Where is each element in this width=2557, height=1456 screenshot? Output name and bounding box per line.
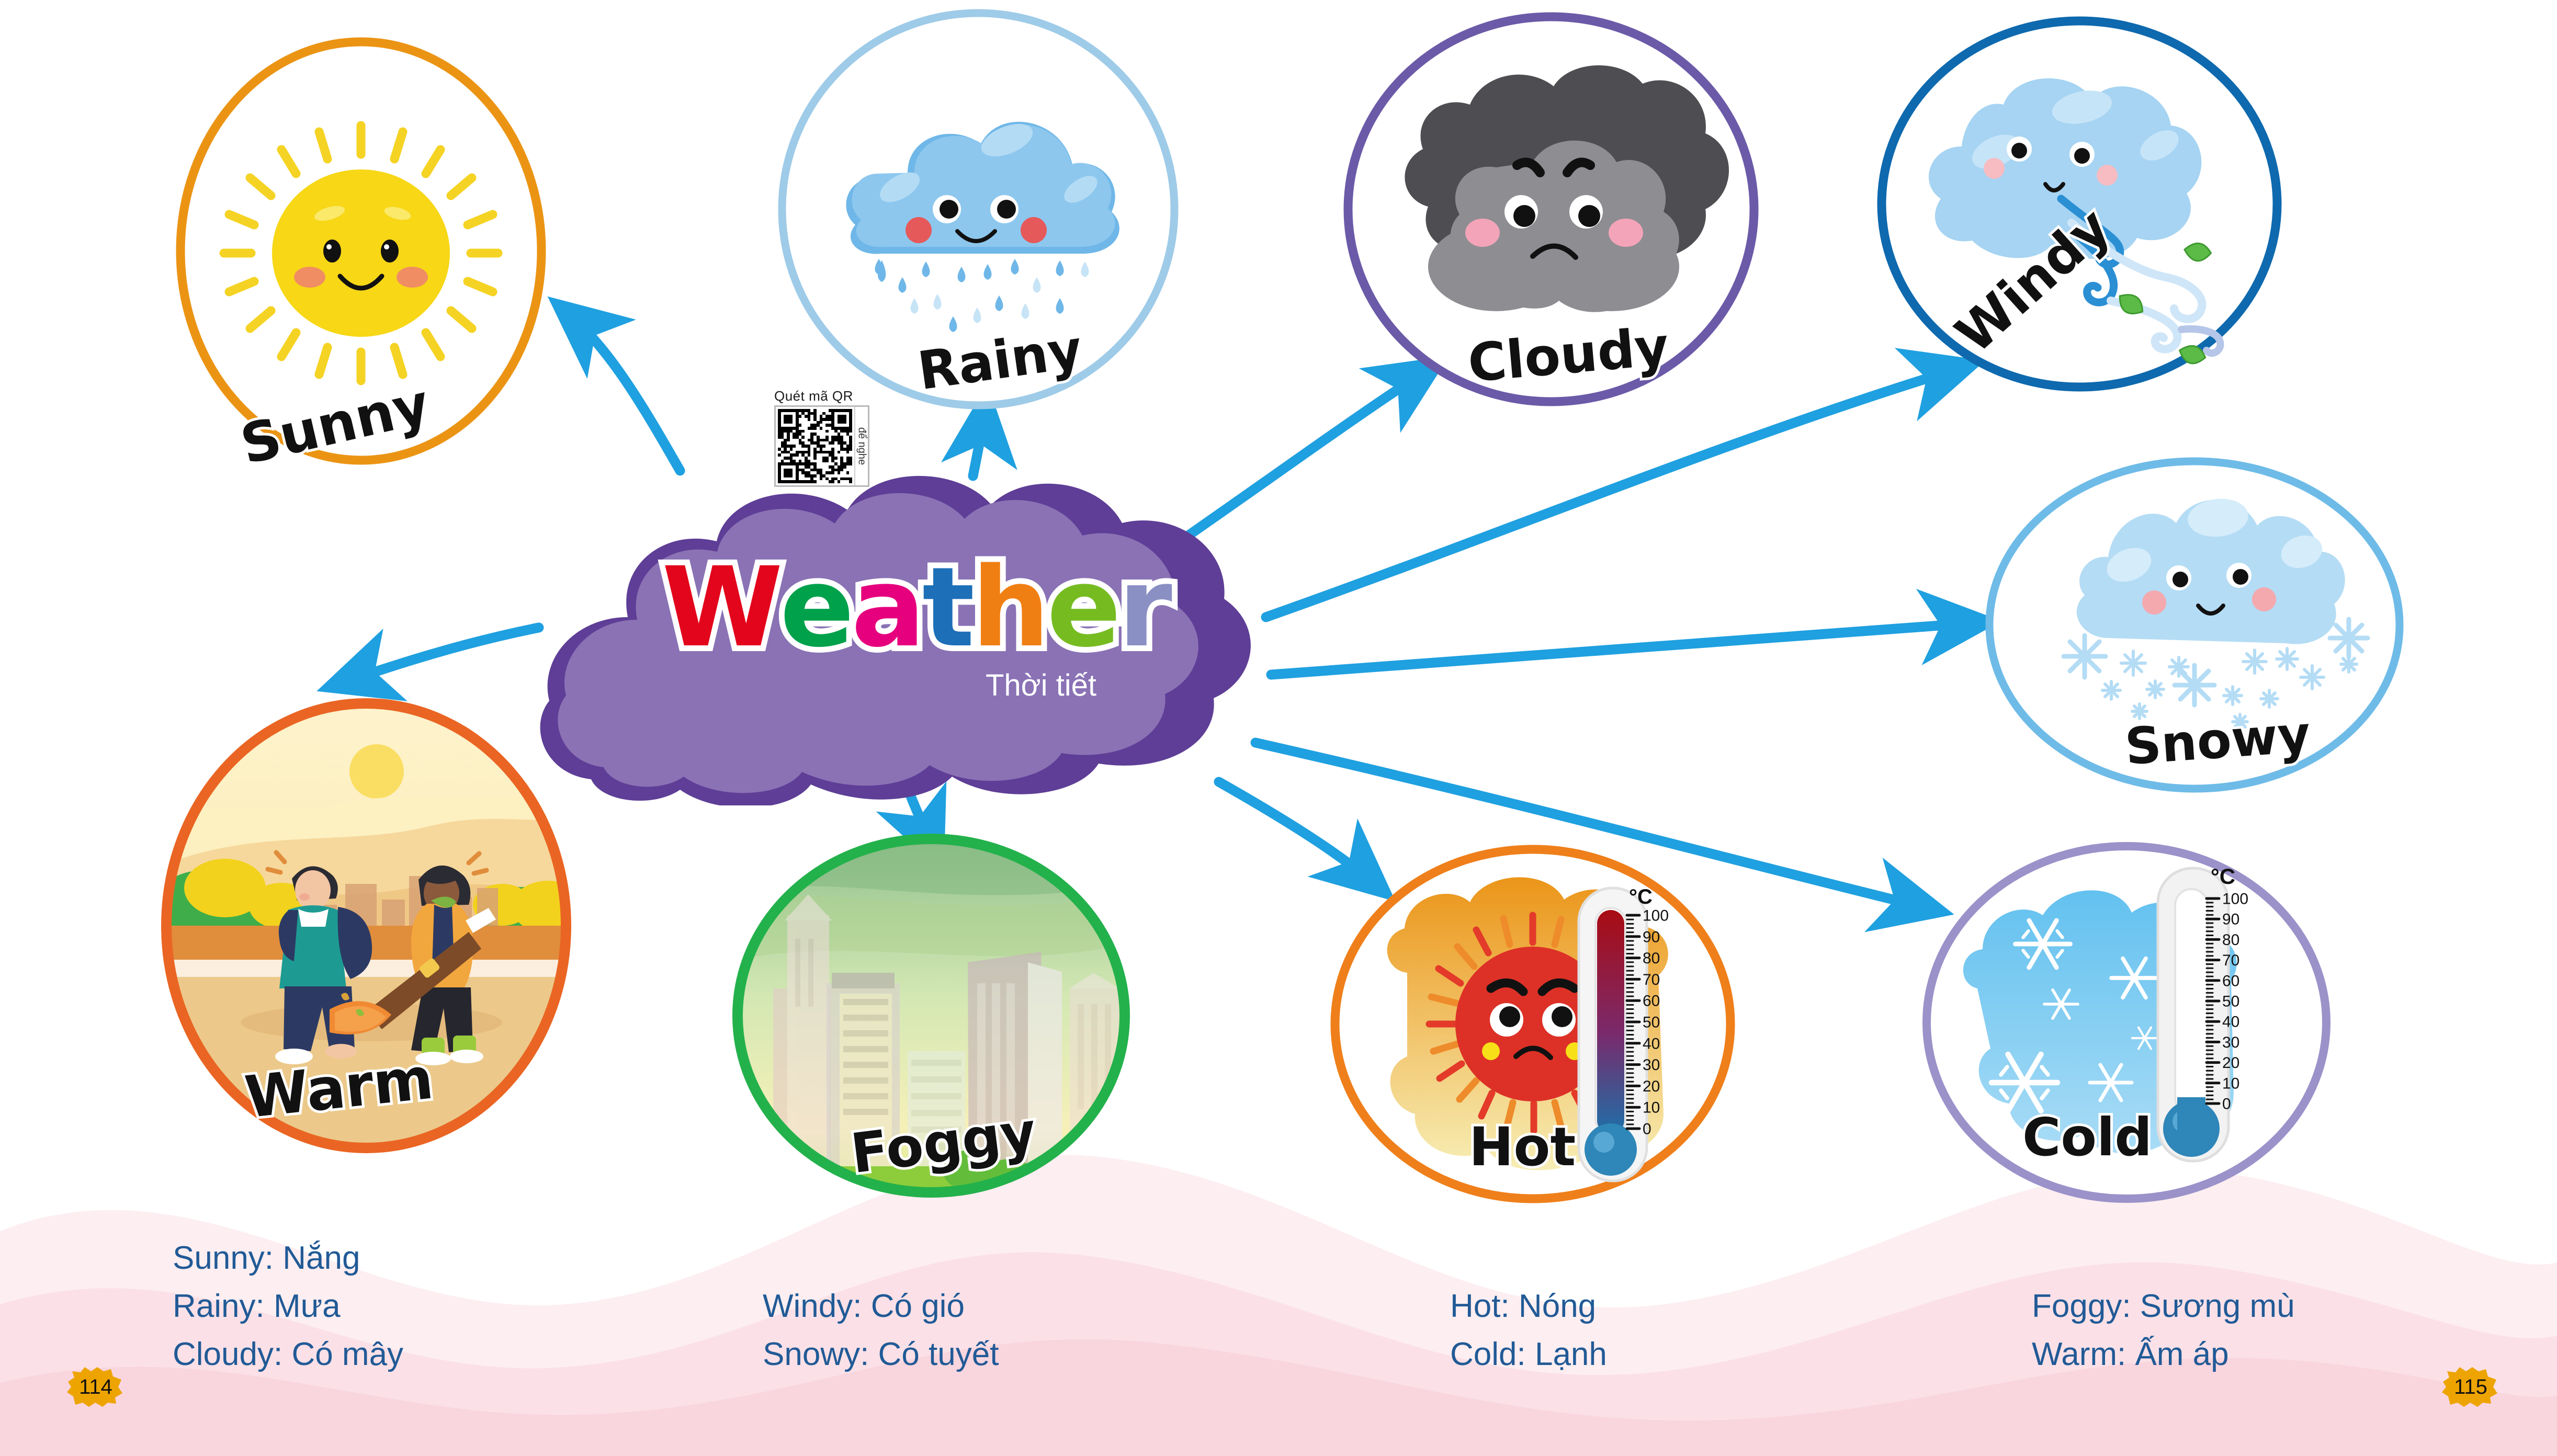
qr-side-caption-wrap: để nghe [854,407,868,485]
legend-line: Cold: Lạnh [1450,1330,1607,1379]
qr-code-image [776,407,854,485]
legend-column-4: Foggy: Sương mù Warm: Ấm áp [2032,1282,2295,1379]
svg-text:70: 70 [2222,952,2239,969]
bubble-foggy[interactable]: Foggy [727,832,1135,1203]
arrow-to-snowy [1271,622,1983,675]
svg-text:80: 80 [2222,931,2239,949]
legend-line: Sunny: Nắng [173,1234,403,1282]
bubble-hot[interactable]: 1009080706050403020100 °C Hot [1329,842,1737,1208]
arrow-to-sunny [562,309,680,471]
legend-line: Hot: Nóng [1450,1282,1607,1330]
qr-code-block[interactable]: Quét mã QR để nghe [774,388,869,487]
title-letter: e [1047,553,1118,663]
bubble-cold[interactable]: 1009080706050403020100 °C Cold [1920,842,2333,1208]
bubble-label-cold: Cold [2022,1107,2152,1168]
svg-text:100: 100 [1643,907,1669,925]
legend-line: Cloudy: Có mây [173,1330,403,1379]
title-letter: h [971,553,1047,663]
svg-text:20: 20 [1643,1078,1660,1095]
page-title: Weather [662,553,1169,663]
legend-line: Windy: Có gió [763,1282,999,1330]
svg-text:60: 60 [1643,993,1660,1010]
legend-line: Rainy: Mưa [173,1282,403,1330]
legend-line: Snowy: Có tuyết [763,1330,999,1379]
legend-line: Foggy: Sương mù [2032,1282,2295,1330]
title-letter: W [662,553,780,663]
svg-text:90: 90 [2222,911,2239,928]
svg-text:60: 60 [2222,972,2239,989]
qr-side-caption: để nghe [856,427,868,465]
bubble-rainy[interactable]: Rainy [769,5,1187,424]
legend-column-3: Hot: Nóng Cold: Lạnh [1450,1282,1607,1379]
bubble-warm[interactable]: Warm [157,696,575,1161]
central-topic-cloud: Weather Thời tiết [497,460,1313,805]
svg-text:90: 90 [1643,928,1660,946]
svg-text:50: 50 [2222,993,2239,1010]
qr-caption: Quét mã QR [774,388,869,404]
svg-text:°C: °C [1629,885,1653,908]
bubble-windy[interactable]: Windy [1873,16,2286,403]
svg-text:80: 80 [1643,950,1660,967]
bubble-cloudy[interactable]: Cloudy [1339,10,1763,418]
page-number-left: 114 [67,1366,125,1408]
svg-text:10: 10 [1643,1099,1660,1117]
svg-text:50: 50 [1643,1014,1660,1031]
svg-text:40: 40 [1643,1035,1660,1052]
svg-text:40: 40 [2222,1014,2239,1031]
svg-text:10: 10 [2222,1075,2239,1092]
page-subtitle: Thời tiết [986,668,1096,703]
svg-text:100: 100 [2222,891,2248,908]
svg-text:70: 70 [1643,971,1660,988]
svg-text:0: 0 [2222,1096,2231,1113]
title-letter: a [851,553,922,663]
svg-text:°C: °C [2211,864,2235,889]
page-number-right-text: 115 [2442,1366,2499,1408]
svg-text:30: 30 [2222,1034,2239,1051]
title-letter: e [780,553,851,663]
legend-column-2: Windy: Có gió Snowy: Có tuyết [763,1282,999,1379]
page-number-left-text: 114 [67,1366,125,1408]
legend-line: Warm: Ấm áp [2032,1330,2295,1379]
bubble-label-hot: Hot [1469,1116,1576,1178]
title-letter: r [1118,553,1169,663]
bubble-sunny[interactable]: Sunny [173,31,549,492]
worksheet-page: Weather Thời tiết Quét mã QR để nghe [0,0,2557,1456]
svg-text:20: 20 [2222,1054,2239,1072]
bubble-snowy[interactable]: Snowy [1983,455,2406,800]
page-number-right: 115 [2442,1366,2499,1408]
svg-text:30: 30 [1643,1056,1660,1074]
svg-text:0: 0 [1643,1121,1651,1138]
legend-column-1: Sunny: Nắng Rainy: Mưa Cloudy: Có mây [173,1234,403,1378]
title-letter: t [922,553,971,663]
